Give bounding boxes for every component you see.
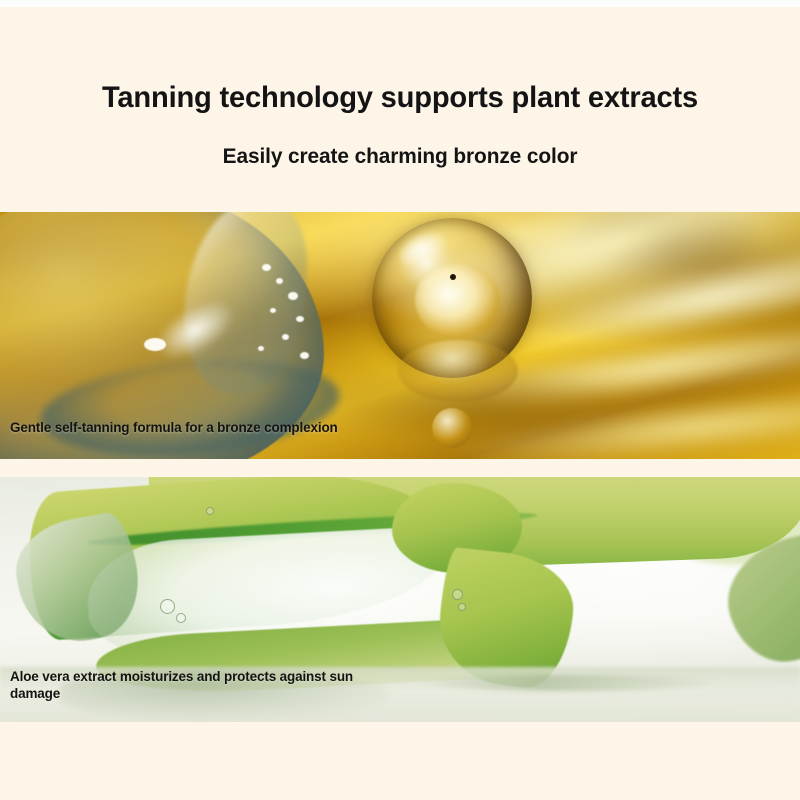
oil-caption: Gentle self-tanning formula for a bronze… (10, 419, 410, 436)
aloe-caption: Aloe vera extract moisturizes and protec… (10, 668, 406, 703)
aloe-gel-bubble (206, 507, 214, 515)
promo-page: Tanning technology supports plant extrac… (0, 0, 800, 800)
aloe-gel-bubble (160, 599, 175, 614)
header-block: Tanning technology supports plant extrac… (0, 7, 800, 212)
oil-sparkle (300, 352, 309, 359)
aloe-gel-bubble (176, 613, 186, 623)
top-white-strip (0, 0, 800, 7)
oil-sparkle (270, 308, 276, 313)
page-title: Tanning technology supports plant extrac… (12, 81, 788, 114)
oil-sparkle (282, 334, 289, 340)
aloe-water-streak (420, 675, 720, 691)
oil-bubble-speck (450, 274, 456, 280)
oil-sparkle (144, 338, 166, 351)
oil-sparkle (288, 292, 298, 300)
oil-sparkle (296, 316, 304, 322)
oil-sparkle (276, 278, 283, 284)
oil-bubble-small (398, 340, 518, 402)
aloe-gel-bubble (452, 589, 463, 600)
oil-sparkle (258, 346, 264, 351)
aloe-gel-bubble (458, 603, 466, 611)
oil-bubble-drop (432, 408, 472, 448)
oil-sparkle (262, 264, 271, 271)
page-subtitle: Easily create charming bronze color (12, 144, 788, 169)
